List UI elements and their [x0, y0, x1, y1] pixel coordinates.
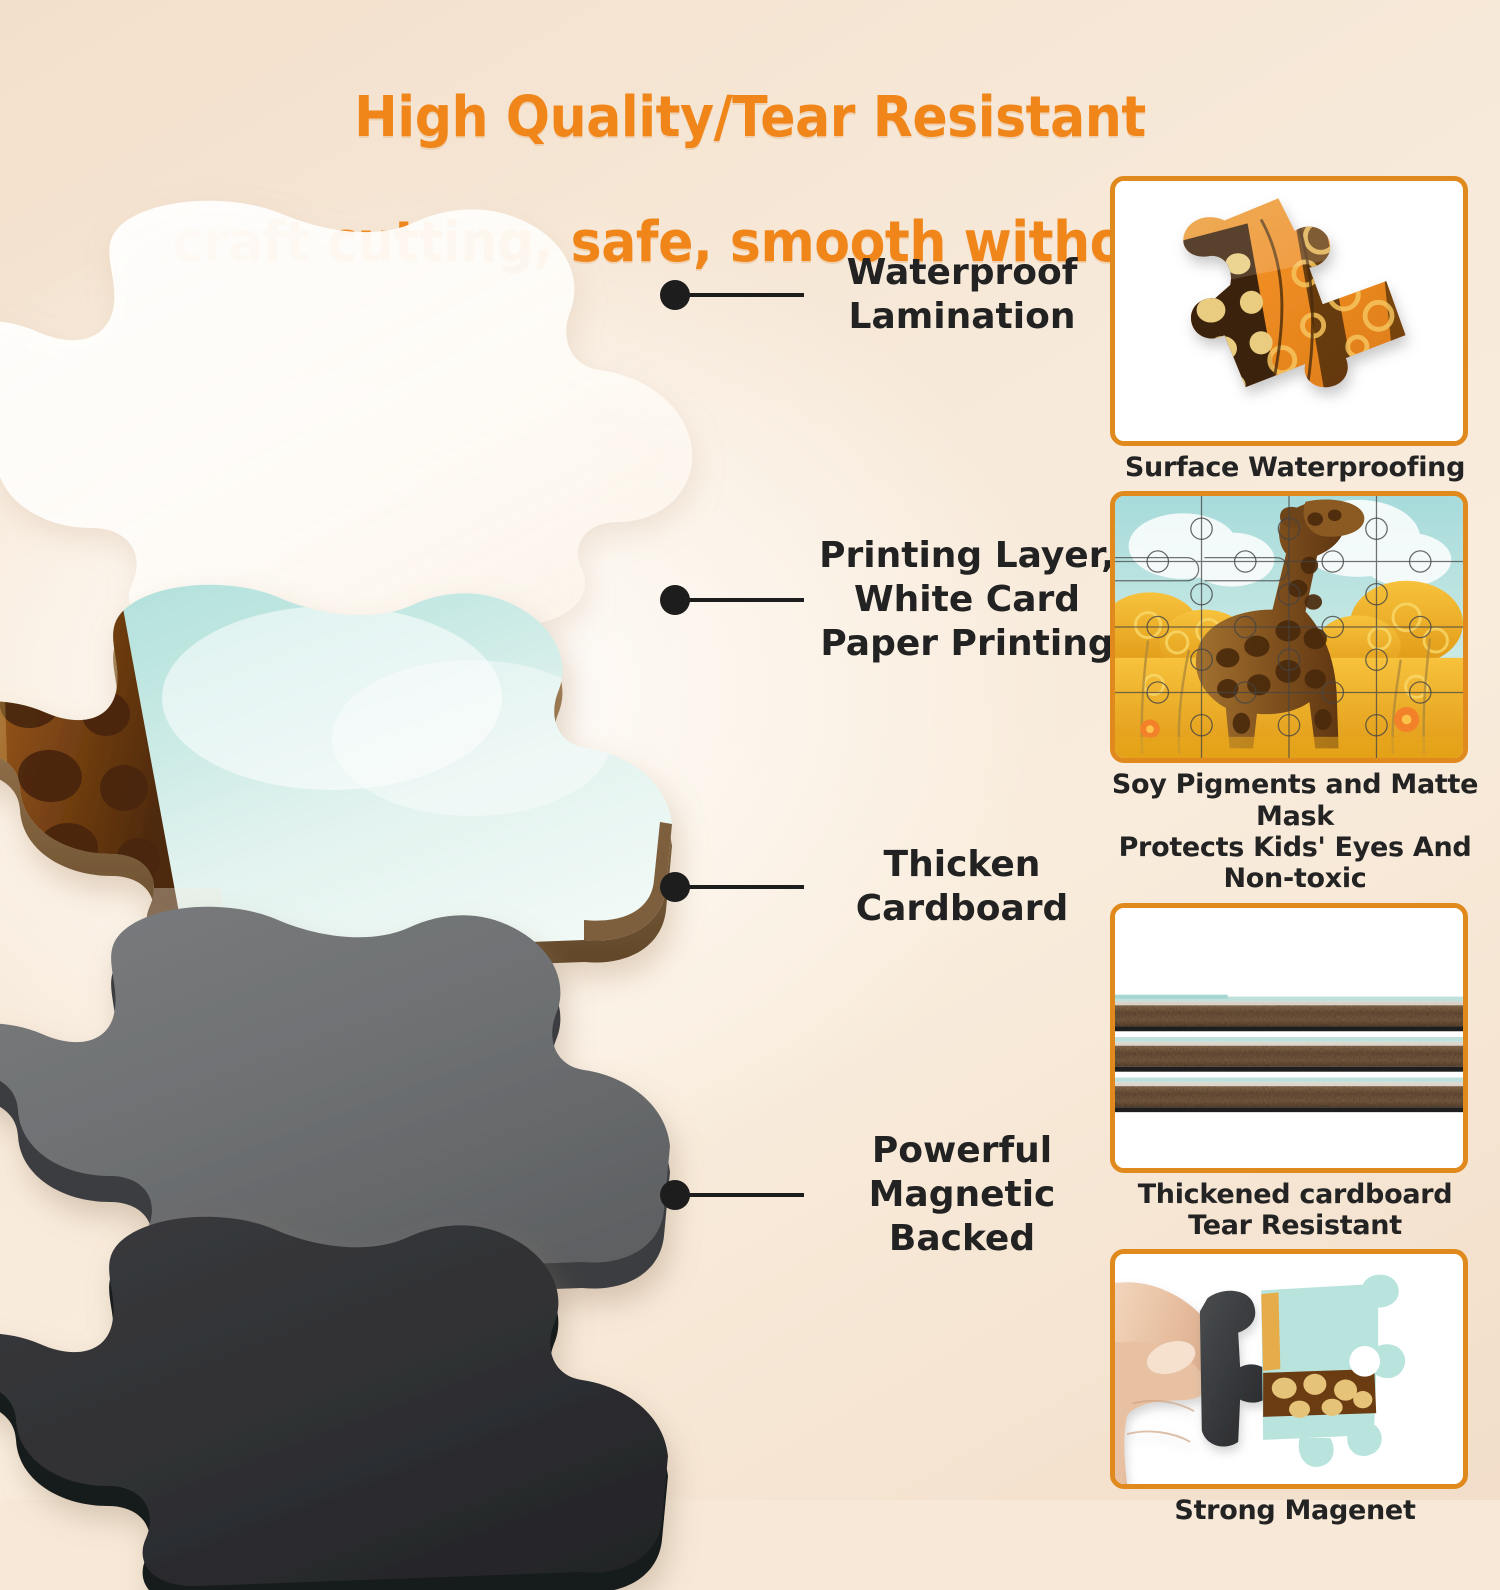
infographic-page: High Quality/Tear Resistant craft cuttin… [0, 0, 1500, 1500]
callout-leader-line [686, 598, 804, 602]
thumbnail-caption-soy-pigments: Soy Pigments and Matte Mask Protects Kid… [1110, 763, 1480, 894]
layer-magnet [0, 1120, 758, 1590]
exploded-layer-illustration [0, 170, 770, 1500]
thumbnail-frame[interactable] [1110, 491, 1468, 763]
callout-label-powerful-magnetic-backed: Powerful Magnetic Backed [812, 1129, 1112, 1261]
callout-leader-line [686, 293, 804, 297]
thumbnail-frame[interactable] [1110, 903, 1468, 1173]
thumbnail-surface-waterproofing: Surface Waterproofing [1110, 176, 1480, 483]
thumbnail-caption-strong-magnet: Strong Magenet [1110, 1489, 1480, 1526]
single-puzzle-piece-glossy-image [1115, 181, 1463, 441]
giraffe-puzzle-complete-image [1115, 496, 1463, 758]
thumbnail-frame[interactable] [1110, 1249, 1468, 1489]
cardboard-edge-layers-image [1115, 908, 1463, 1168]
callout-label-thicken-cardboard: Thicken Cardboard [812, 843, 1112, 931]
callout-leader-line [686, 1193, 804, 1197]
callout-label-printing-layer: Printing Layer, White Card Paper Printin… [812, 534, 1122, 666]
page-title-line-1: High Quality/Tear Resistant [53, 87, 1448, 150]
hand-holding-magnetic-piece-image [1115, 1254, 1463, 1484]
thumbnail-soy-pigments: Soy Pigments and Matte Mask Protects Kid… [1110, 491, 1480, 894]
callout-label-waterproof-lamination: Waterproof Lamination [812, 251, 1112, 339]
thumbnail-caption-thickened-cardboard: Thickened cardboard Tear Resistant [1110, 1173, 1480, 1242]
feature-thumbnail-column: Surface Waterproofing [1110, 176, 1480, 1535]
callout-leader-line [686, 885, 804, 889]
thumbnail-caption-surface-waterproofing: Surface Waterproofing [1110, 446, 1480, 483]
thumbnail-strong-magnet: Strong Magenet [1110, 1249, 1480, 1526]
thumbnail-frame[interactable] [1110, 176, 1468, 446]
thumbnail-thickened-cardboard: Thickened cardboard Tear Resistant [1110, 903, 1480, 1242]
